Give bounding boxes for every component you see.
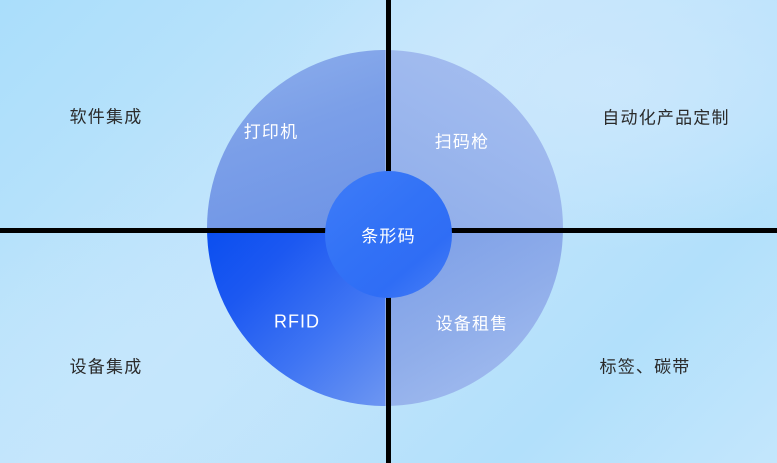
segment-label-printer: 打印机 [244, 118, 299, 143]
center-circle[interactable]: 条形码 [325, 171, 452, 298]
outer-label-device-integration: 设备集成 [70, 353, 143, 378]
outer-label-labels-ribbons: 标签、碳带 [600, 353, 691, 378]
segment-label-rfid: RFID [274, 312, 320, 333]
outer-label-automation-custom: 自动化产品定制 [602, 104, 729, 129]
center-circle-label: 条形码 [361, 222, 416, 247]
segment-label-rental: 设备租售 [436, 310, 509, 335]
segment-label-scanner: 扫码枪 [435, 128, 490, 153]
outer-label-software-integration: 软件集成 [70, 103, 143, 128]
diagram-canvas: 条形码 打印机 扫码枪 RFID 设备租售 软件集成 自动化产品定制 设备集成 … [0, 0, 777, 463]
